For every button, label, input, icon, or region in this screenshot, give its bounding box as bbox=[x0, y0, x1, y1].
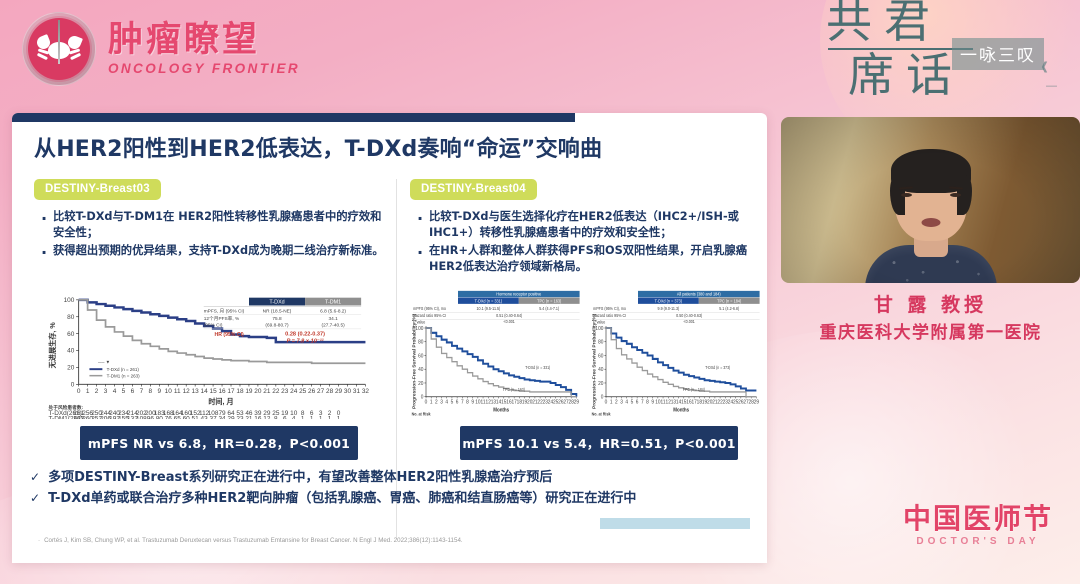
svg-text:28: 28 bbox=[326, 388, 334, 395]
svg-text:P = 7.8 × 10⁻²²: P = 7.8 × 10⁻²² bbox=[287, 337, 324, 344]
svg-text:21: 21 bbox=[263, 388, 271, 395]
result-banner-breast04: mPFS 10.1 vs 5.4，HR=0.51，P<0.001 bbox=[460, 426, 738, 460]
svg-text:mPFS (95% CI), mo: mPFS (95% CI), mo bbox=[413, 306, 447, 311]
svg-text:TPC (n = 163): TPC (n = 163) bbox=[537, 298, 562, 303]
svg-text:T-DM1 (n = 263): T-DM1 (n = 263) bbox=[107, 373, 140, 378]
brand-logo: 肿瘤瞭望 ONCOLOGY FRONTIER bbox=[22, 12, 300, 86]
svg-text:30: 30 bbox=[344, 388, 352, 395]
svg-text:60: 60 bbox=[598, 353, 603, 359]
svg-text:0: 0 bbox=[605, 399, 608, 405]
list-item: ✓ T-DXd单药或联合治疗多种HER2靶向肿瘤（包括乳腺癌、胃癌、肺癌和结直肠… bbox=[30, 490, 760, 508]
svg-text:HR (95% CI): HR (95% CI) bbox=[215, 332, 245, 338]
list-item: ✓ 多项DESTINY-Breast系列研究正在进行中，有望改善整体HER2阳性… bbox=[30, 469, 760, 487]
svg-text:20: 20 bbox=[254, 388, 262, 395]
svg-text:21: 21 bbox=[245, 416, 253, 419]
svg-text:T-DXd: T-DXd bbox=[269, 300, 284, 306]
km-curve-svg-04-hr: Hormone receptor positive T-DXd (n = 331… bbox=[410, 289, 586, 419]
x-axis-label: Months bbox=[493, 407, 509, 413]
svg-text:7: 7 bbox=[641, 399, 644, 405]
svg-text:T-DXd (n = 261): T-DXd (n = 261) bbox=[107, 367, 140, 372]
svg-text:60: 60 bbox=[67, 331, 75, 338]
svg-text:6: 6 bbox=[456, 399, 459, 405]
svg-text:6: 6 bbox=[636, 399, 639, 405]
svg-text:TPC (n = 163): TPC (n = 163) bbox=[503, 388, 526, 392]
svg-text:76: 76 bbox=[165, 416, 173, 419]
svg-text:65: 65 bbox=[174, 416, 182, 419]
svg-text:29: 29 bbox=[335, 388, 343, 395]
svg-text:7: 7 bbox=[140, 388, 144, 395]
slide-accent-bar bbox=[12, 113, 575, 122]
checklist-text: T-DXd单药或联合治疗多种HER2靶向肿瘤（包括乳腺癌、胃癌、肺癌和结直肠癌等… bbox=[48, 490, 636, 508]
svg-text:Hazard ratio 95% CI: Hazard ratio 95% CI bbox=[593, 313, 626, 318]
svg-text:1: 1 bbox=[430, 399, 433, 405]
svg-text:60: 60 bbox=[418, 353, 423, 359]
svg-text:80: 80 bbox=[67, 314, 75, 321]
doctors-day-en: DOCTOR'S DAY bbox=[888, 536, 1068, 547]
svg-text:NR (18.5-NE): NR (18.5-NE) bbox=[263, 308, 292, 314]
svg-text:40: 40 bbox=[418, 367, 423, 373]
svg-text:75.8: 75.8 bbox=[272, 316, 282, 322]
svg-text:T-DM1: T-DM1 bbox=[325, 300, 341, 306]
svg-text:8: 8 bbox=[646, 399, 649, 405]
svg-text:34: 34 bbox=[218, 416, 226, 419]
check-icon: ✓ bbox=[30, 490, 40, 506]
svg-text:31: 31 bbox=[353, 388, 361, 395]
svg-text:13: 13 bbox=[192, 388, 200, 395]
y-axis-label: 无进展生存, % bbox=[48, 322, 57, 370]
svg-text:4: 4 bbox=[445, 399, 448, 405]
speaker-organization: 重庆医科大学附属第一医院 bbox=[781, 321, 1080, 347]
series-line-tpc bbox=[426, 328, 576, 397]
chip-destiny-breast03: DESTINY-Breast03 bbox=[34, 179, 161, 200]
column-destiny-breast03: DESTINY-Breast03 比较T-DXd与T-DM1在 HER2阳性转移… bbox=[34, 179, 386, 260]
svg-text:29: 29 bbox=[574, 399, 579, 405]
bullet-list-left: 比较T-DXd与T-DM1在 HER2阳性转移性乳腺癌患者中的疗效和安全性； 获… bbox=[38, 209, 386, 259]
svg-text:No. at Risk: No. at Risk bbox=[412, 411, 432, 416]
chart-destiny-breast04-hr-positive: Hormone receptor positive T-DXd (n = 331… bbox=[410, 289, 586, 419]
svg-text:34.1: 34.1 bbox=[328, 316, 338, 322]
speaker-name: 甘 露 教授 bbox=[781, 292, 1080, 319]
svg-text:29: 29 bbox=[754, 399, 759, 405]
svg-text:T-DXd (n = 373): T-DXd (n = 373) bbox=[705, 366, 731, 370]
chip-destiny-breast04: DESTINY-Breast04 bbox=[410, 179, 537, 200]
svg-text:9: 9 bbox=[471, 399, 474, 405]
svg-text:100: 100 bbox=[64, 297, 75, 304]
svg-text:1: 1 bbox=[337, 416, 341, 419]
svg-text:96: 96 bbox=[147, 416, 155, 419]
svg-text:Hazard ratio 95% CI: Hazard ratio 95% CI bbox=[413, 313, 446, 318]
svg-text:1: 1 bbox=[301, 416, 305, 419]
conclusion-checklist: ✓ 多项DESTINY-Breast系列研究正在进行中，有望改善整体HER2阳性… bbox=[30, 469, 760, 510]
svg-text:12: 12 bbox=[183, 388, 191, 395]
svg-text:23: 23 bbox=[281, 388, 289, 395]
svg-text:40: 40 bbox=[598, 367, 603, 373]
svg-text:9.9 (9.0-11.3): 9.9 (9.0-11.3) bbox=[658, 306, 680, 311]
svg-text:100: 100 bbox=[415, 326, 423, 332]
bird-icon: — bbox=[1046, 80, 1057, 92]
svg-text:1: 1 bbox=[310, 416, 314, 419]
svg-text:5: 5 bbox=[122, 388, 126, 395]
svg-text:<0.001: <0.001 bbox=[504, 319, 516, 324]
svg-text:20: 20 bbox=[67, 365, 75, 372]
svg-text:19: 19 bbox=[245, 388, 253, 395]
svg-text:0: 0 bbox=[71, 381, 75, 388]
svg-text:20: 20 bbox=[598, 381, 603, 387]
svg-text:── ▼: ── ▼ bbox=[97, 360, 110, 365]
svg-text:0.28 (0.22-0.37): 0.28 (0.22-0.37) bbox=[285, 331, 325, 337]
slide-footer-accent bbox=[600, 518, 750, 529]
svg-text:5.1 (4.2-6.8): 5.1 (4.2-6.8) bbox=[719, 306, 740, 311]
svg-text:27: 27 bbox=[317, 388, 325, 395]
inset-stats-table: Hormone receptor positive T-DXd (n = 331… bbox=[413, 291, 579, 325]
list-item: 获得超出预期的优异结果，支持T-DXd成为晚期二线治疗新标准。 bbox=[38, 243, 386, 259]
svg-text:All patients (380 and 184): All patients (380 and 184) bbox=[677, 291, 721, 296]
svg-text:80: 80 bbox=[418, 339, 423, 345]
svg-text:8: 8 bbox=[466, 399, 469, 405]
svg-text:No. at Risk: No. at Risk bbox=[592, 411, 612, 416]
svg-text:8: 8 bbox=[274, 416, 278, 419]
svg-text:16: 16 bbox=[218, 388, 226, 395]
bullet-list-right: 比较T-DXd与医生选择化疗在HER2低表达（IHC2+/ISH-或IHC1+）… bbox=[414, 209, 762, 276]
svg-text:16: 16 bbox=[254, 416, 262, 419]
inset-stats-table: T-DXd T-DM1 mPFS, 月 (95% CI) NR (18.5-NE… bbox=[204, 298, 361, 345]
svg-text:25: 25 bbox=[299, 388, 307, 395]
svg-text:TPC (n = 184): TPC (n = 184) bbox=[717, 298, 742, 303]
calligraphy-line-1: 共君 bbox=[826, 0, 942, 44]
svg-text:15: 15 bbox=[209, 388, 217, 395]
km-curve-svg-04-all: All patients (380 and 184) T-DXd (n = 37… bbox=[590, 289, 766, 419]
svg-text:60: 60 bbox=[183, 416, 191, 419]
svg-text:9: 9 bbox=[158, 388, 162, 395]
y-axis-label: Progression-Free Survival Probability (%… bbox=[592, 313, 597, 409]
svg-text:1: 1 bbox=[86, 388, 90, 395]
svg-text:<0.001: <0.001 bbox=[684, 319, 696, 324]
crab-globe-icon bbox=[22, 12, 96, 86]
chart-destiny-breast04-all-patients: All patients (380 and 184) T-DXd (n = 37… bbox=[590, 289, 766, 419]
svg-text:1: 1 bbox=[319, 416, 323, 419]
svg-text:3: 3 bbox=[620, 399, 623, 405]
svg-text:108: 108 bbox=[136, 416, 147, 419]
calligraphy-line-2: 席话 bbox=[848, 52, 964, 98]
svg-text:3: 3 bbox=[104, 388, 108, 395]
slide-title: 从HER2阳性到HER2低表达，T-DXd奏响“命运”交响曲 bbox=[34, 131, 749, 163]
presentation-slide: 从HER2阳性到HER2低表达，T-DXd奏响“命运”交响曲 DESTINY-B… bbox=[12, 113, 767, 563]
svg-text:3: 3 bbox=[440, 399, 443, 405]
svg-text:20: 20 bbox=[418, 381, 423, 387]
svg-text:10: 10 bbox=[165, 388, 173, 395]
svg-text:0: 0 bbox=[601, 394, 604, 400]
svg-text:10.1 (9.5-11.5): 10.1 (9.5-11.5) bbox=[477, 306, 501, 311]
svg-text:32: 32 bbox=[362, 388, 370, 395]
svg-text:24: 24 bbox=[290, 388, 298, 395]
svg-text:0.50 (0.40-0.63): 0.50 (0.40-0.63) bbox=[676, 313, 703, 318]
speaker-info: 甘 露 教授 重庆医科大学附属第一医院 bbox=[781, 292, 1080, 346]
chart-destiny-breast03-pfs: 020406080100 012345678910111213141516171… bbox=[42, 289, 387, 419]
svg-text:80: 80 bbox=[156, 416, 164, 419]
svg-text:5: 5 bbox=[631, 399, 634, 405]
doctors-day-cn: 中国医师节 bbox=[888, 505, 1068, 533]
svg-text:5.4 (4.4-7.1): 5.4 (4.4-7.1) bbox=[539, 306, 560, 311]
column-destiny-breast04: DESTINY-Breast04 比较T-DXd与医生选择化疗在HER2低表达（… bbox=[410, 179, 762, 277]
svg-text:5: 5 bbox=[451, 399, 454, 405]
svg-text:12: 12 bbox=[263, 416, 271, 419]
svg-text:(95% CI): (95% CI) bbox=[204, 322, 223, 328]
svg-text:4: 4 bbox=[625, 399, 628, 405]
speaker-video-panel[interactable] bbox=[781, 117, 1080, 283]
svg-text:8: 8 bbox=[149, 388, 153, 395]
x-axis-label: 时间, 月 bbox=[208, 397, 233, 406]
svg-text:43: 43 bbox=[201, 416, 209, 419]
svg-text:T-DXd (n = 331): T-DXd (n = 331) bbox=[525, 366, 551, 370]
x-axis-label: Months bbox=[673, 407, 689, 413]
svg-text:18: 18 bbox=[236, 388, 244, 395]
svg-text:12个月PFS率, %: 12个月PFS率, % bbox=[204, 315, 240, 322]
inset-stats-table: All patients (380 and 184) T-DXd (n = 37… bbox=[593, 291, 759, 325]
svg-text:6.8 (5.6-8.2): 6.8 (5.6-8.2) bbox=[320, 308, 346, 314]
brand-name-en: ONCOLOGY FRONTIER bbox=[108, 61, 300, 76]
svg-text:11: 11 bbox=[174, 388, 181, 395]
svg-text:mPFS, 月 (95% CI): mPFS, 月 (95% CI) bbox=[204, 308, 245, 314]
svg-text:mPFS (95% CI), mo: mPFS (95% CI), mo bbox=[593, 306, 627, 311]
svg-text:0: 0 bbox=[77, 388, 81, 395]
svg-text:1: 1 bbox=[610, 399, 613, 405]
chart-legend: ── ▼ T-DXd (n = 261) T-DM1 (n = 263) bbox=[89, 360, 140, 379]
svg-text:2: 2 bbox=[435, 399, 438, 405]
svg-text:Hormone receptor positive: Hormone receptor positive bbox=[496, 291, 542, 296]
svg-text:TPC (n = 184): TPC (n = 184) bbox=[683, 388, 706, 392]
svg-text:17: 17 bbox=[227, 388, 235, 395]
list-item: 比较T-DXd与T-DM1在 HER2阳性转移性乳腺癌患者中的疗效和安全性； bbox=[38, 209, 386, 242]
series-line-tpc bbox=[606, 328, 756, 397]
svg-text:4: 4 bbox=[113, 388, 117, 395]
list-item: 在HR+人群和整体人群获得PFS和OS双阳性结果，开启乳腺癌HER2低表达治疗领… bbox=[414, 243, 762, 276]
svg-text:4: 4 bbox=[292, 416, 296, 419]
svg-text:7: 7 bbox=[461, 399, 464, 405]
svg-text:40: 40 bbox=[67, 348, 75, 355]
svg-text:(69.8-80.7): (69.8-80.7) bbox=[265, 322, 289, 328]
svg-text:100: 100 bbox=[595, 326, 603, 332]
svg-text:23: 23 bbox=[236, 416, 244, 419]
svg-text:6: 6 bbox=[131, 388, 135, 395]
slide-footnote: Cortés J, Kim SB, Chung WP, et al. Trast… bbox=[38, 537, 738, 544]
svg-text:T-DXd (n = 373): T-DXd (n = 373) bbox=[655, 298, 683, 303]
brand-name-cn: 肿瘤瞭望 bbox=[108, 22, 300, 59]
svg-text:14: 14 bbox=[201, 388, 209, 395]
km-curve-svg-03: 020406080100 012345678910111213141516171… bbox=[42, 289, 387, 419]
svg-text:9: 9 bbox=[651, 399, 654, 405]
bird-icon: ❰ bbox=[1040, 60, 1049, 73]
svg-text:0: 0 bbox=[425, 399, 428, 405]
result-banner-breast03: mPFS NR vs 6.8，HR=0.28，P<0.001 bbox=[80, 426, 358, 460]
doctors-day-logo: 中国医师节 DOCTOR'S DAY bbox=[888, 505, 1068, 547]
svg-text:2: 2 bbox=[95, 388, 99, 395]
calligraphy-badge: 一咏三叹 bbox=[952, 38, 1044, 70]
svg-text:37: 37 bbox=[209, 416, 217, 419]
broadcast-stage: 肿瘤瞭望 ONCOLOGY FRONTIER 共君 席话 一咏三叹 ❰ — 从H… bbox=[0, 0, 1080, 584]
svg-text:(27.7-40.5): (27.7-40.5) bbox=[321, 322, 345, 328]
svg-text:T-DXd (n = 331): T-DXd (n = 331) bbox=[475, 298, 503, 303]
y-axis-label: Progression-Free Survival Probability (%… bbox=[412, 313, 417, 409]
svg-text:1: 1 bbox=[328, 416, 332, 419]
svg-text:22: 22 bbox=[272, 388, 280, 395]
svg-text:0.51 (0.40-0.64): 0.51 (0.40-0.64) bbox=[496, 313, 523, 318]
svg-text:29: 29 bbox=[227, 416, 235, 419]
list-item: 比较T-DXd与医生选择化疗在HER2低表达（IHC2+/ISH-或IHC1+）… bbox=[414, 209, 762, 242]
svg-text:51: 51 bbox=[192, 416, 200, 419]
svg-text:26: 26 bbox=[308, 388, 316, 395]
check-icon: ✓ bbox=[30, 469, 40, 485]
checklist-text: 多项DESTINY-Breast系列研究正在进行中，有望改善整体HER2阳性乳腺… bbox=[48, 469, 552, 487]
svg-text:2: 2 bbox=[615, 399, 618, 405]
svg-text:80: 80 bbox=[598, 339, 603, 345]
svg-text:6: 6 bbox=[283, 416, 287, 419]
svg-text:0: 0 bbox=[421, 394, 424, 400]
